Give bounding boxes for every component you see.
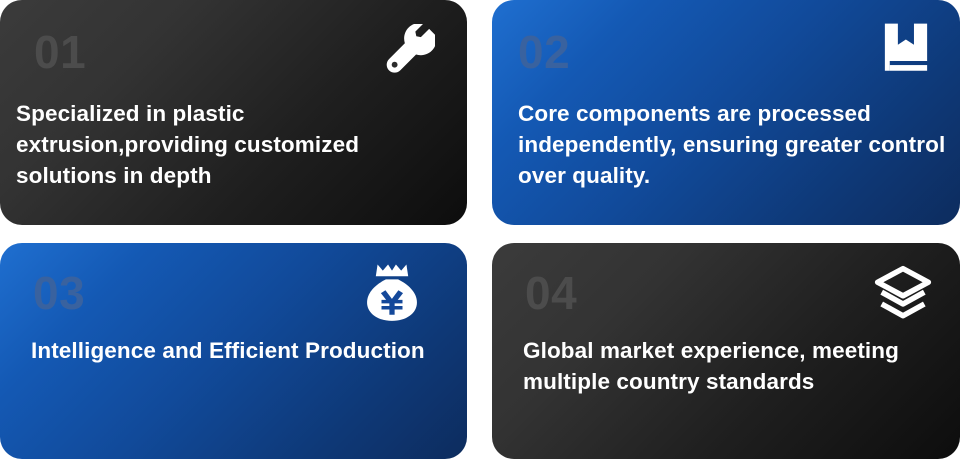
card-number-04: 04	[525, 270, 577, 316]
feature-card-04[interactable]: 04 Global market experience, meeting mul…	[492, 243, 960, 459]
card-title-01: Specialized in plastic extrusion,providi…	[16, 98, 446, 191]
feature-card-03[interactable]: 03 Intelligence and Efficient Production	[0, 243, 467, 459]
card-title-03: Intelligence and Efficient Production	[31, 335, 431, 366]
book-bookmark-icon	[880, 22, 932, 74]
card-number-01: 01	[34, 29, 86, 75]
card-number-03: 03	[33, 270, 85, 316]
feature-card-01[interactable]: 01 Specialized in plastic extrusion,prov…	[0, 0, 467, 225]
money-bag-yen-icon	[364, 261, 420, 323]
card-title-04: Global market experience, meeting multip…	[523, 335, 923, 397]
feature-card-grid: 01 Specialized in plastic extrusion,prov…	[0, 0, 960, 459]
card-title-02: Core components are processed independen…	[518, 98, 948, 191]
layers-stack-icon	[874, 265, 932, 323]
feature-card-02[interactable]: 02 Core components are processed indepen…	[492, 0, 960, 225]
card-number-02: 02	[518, 29, 570, 75]
wrench-icon	[383, 24, 435, 76]
